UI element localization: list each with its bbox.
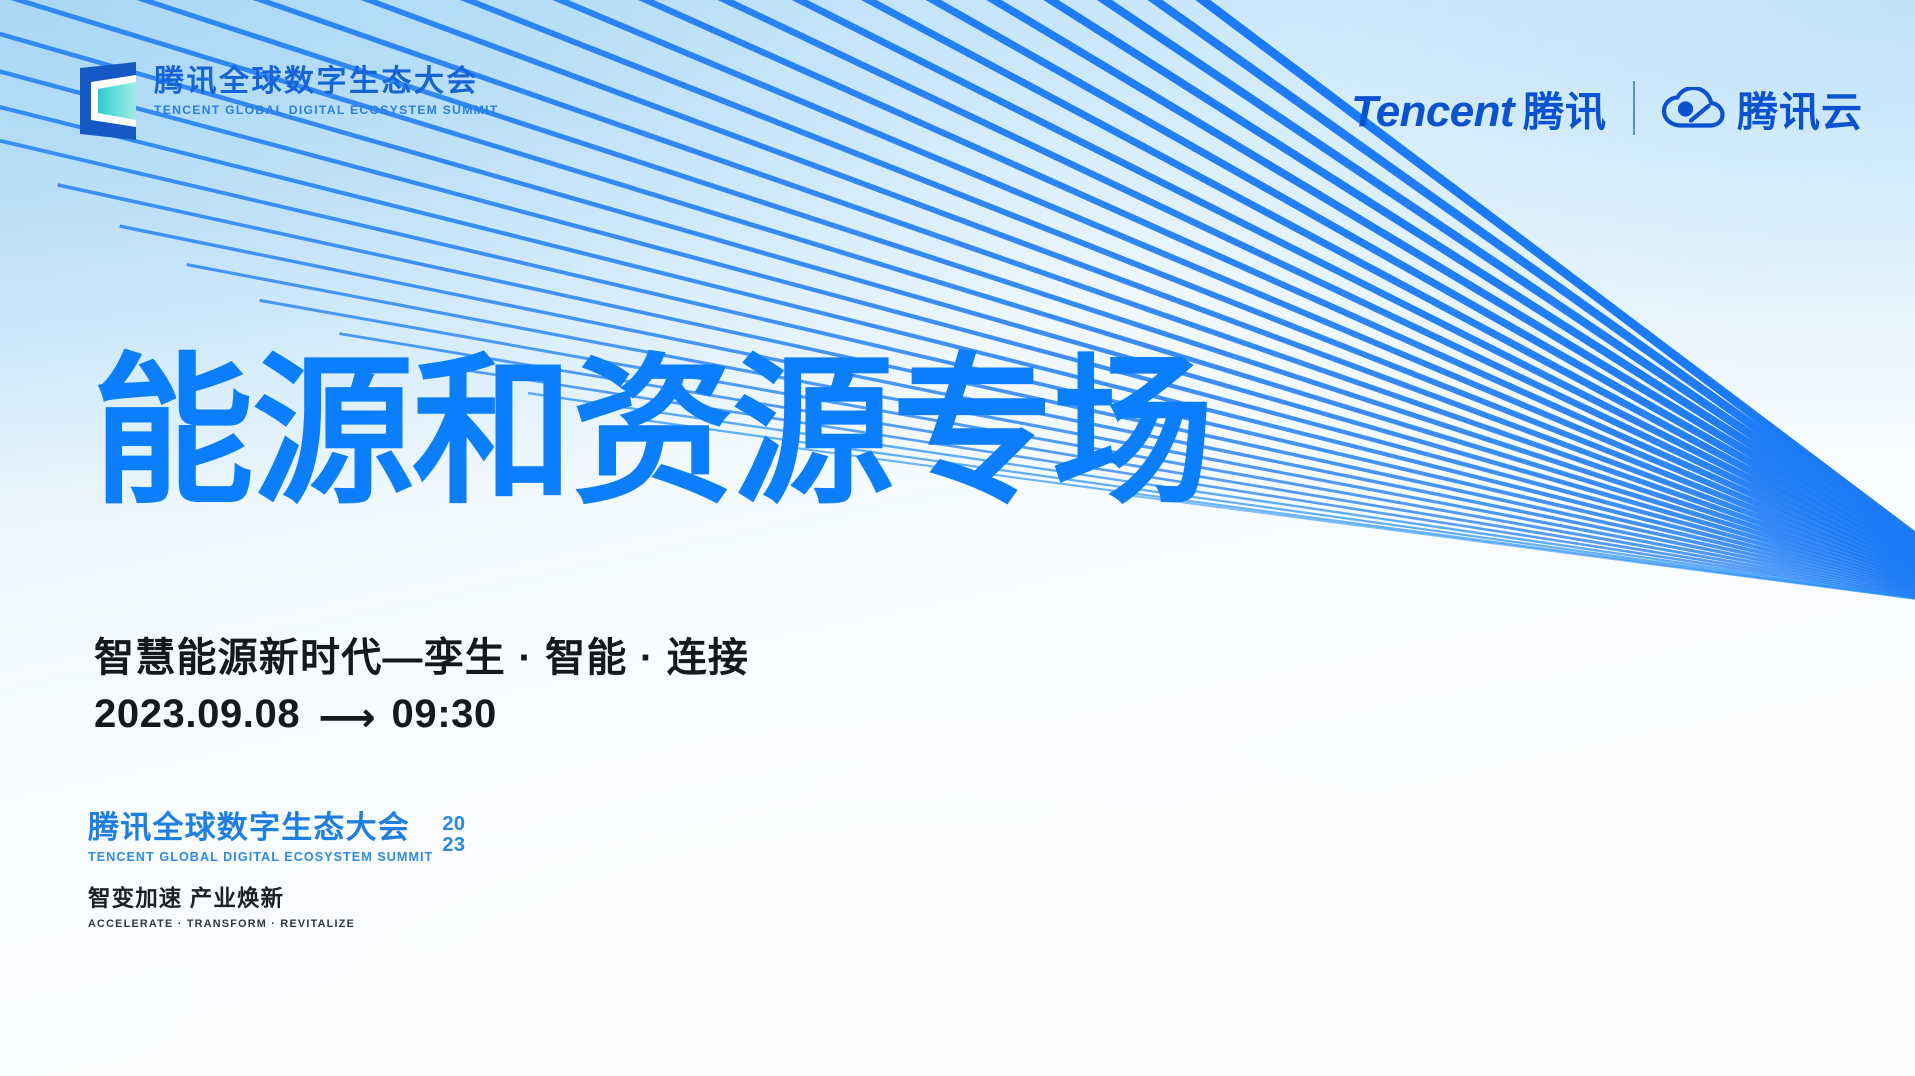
year-bottom: 23 bbox=[442, 835, 465, 856]
footer-summit-cn: 腾讯全球数字生态大会 bbox=[88, 812, 433, 845]
summit-logo-en: TENCENT GLOBAL DIGITAL ECOSYSTEM SUMMIT bbox=[154, 103, 498, 117]
arrow-right-icon: ⟶ bbox=[318, 698, 373, 738]
footer-logo-row: 腾讯全球数字生态大会 TENCENT GLOBAL DIGITAL ECOSYS… bbox=[88, 812, 466, 864]
tencent-wordmark-cn: 腾讯 bbox=[1523, 78, 1607, 138]
footer-summit-logo: 腾讯全球数字生态大会 TENCENT GLOBAL DIGITAL ECOSYS… bbox=[88, 812, 466, 930]
tencent-cloud-wordmark-cn: 腾讯云 bbox=[1737, 78, 1863, 138]
event-date: 2023.09.08 bbox=[94, 692, 300, 737]
summit-d-mark-icon bbox=[78, 62, 140, 140]
header-summit-logo: 腾讯全球数字生态大会 TENCENT GLOBAL DIGITAL ECOSYS… bbox=[78, 62, 498, 140]
header-tencent-brand: Tencent 腾讯 腾讯云 bbox=[1351, 78, 1863, 138]
summit-logo-cn: 腾讯全球数字生态大会 bbox=[154, 66, 498, 98]
tencent-cloud-icon bbox=[1661, 87, 1725, 129]
footer-summit-year: 20 23 bbox=[442, 814, 465, 856]
event-datetime: 2023.09.08 ⟶ 09:30 bbox=[94, 692, 497, 737]
footer-summit-en: TENCENT GLOBAL DIGITAL ECOSYSTEM SUMMIT bbox=[88, 850, 433, 864]
tencent-wordmark: Tencent bbox=[1351, 87, 1514, 137]
poster-canvas: 腾讯全球数字生态大会 TENCENT GLOBAL DIGITAL ECOSYS… bbox=[0, 0, 1915, 1076]
footer-tagline-cn: 智变加速 产业焕新 bbox=[88, 881, 466, 913]
footer-tagline-en: ACCELERATE · TRANSFORM · REVITALIZE bbox=[88, 918, 466, 930]
tencent-lockup: Tencent 腾讯 bbox=[1351, 78, 1607, 138]
page-title: 能源和资源专场 bbox=[92, 352, 1212, 514]
tencent-cloud-lockup: 腾讯云 bbox=[1661, 78, 1863, 138]
year-top: 20 bbox=[442, 814, 465, 835]
brand-divider bbox=[1633, 81, 1635, 135]
event-time: 09:30 bbox=[392, 692, 497, 737]
page-subtitle: 智慧能源新时代—孪生 · 智能 · 连接 bbox=[94, 625, 749, 683]
